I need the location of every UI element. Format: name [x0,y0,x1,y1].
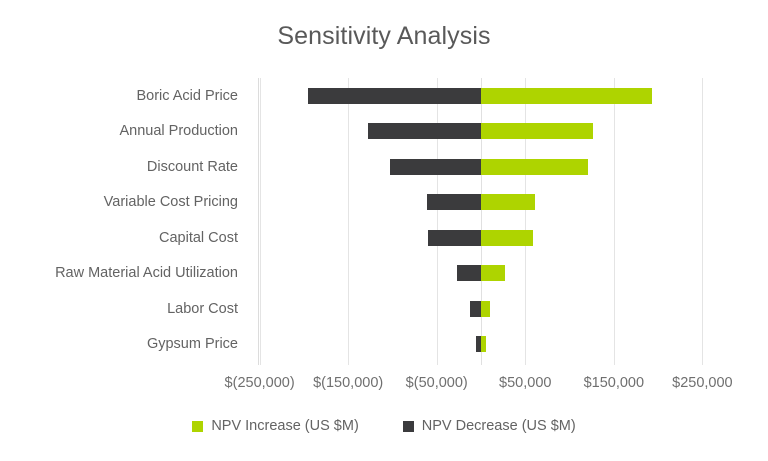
bar-row [258,149,699,184]
bar-npv-decrease[interactable] [457,265,481,281]
bar-npv-increase[interactable] [481,301,490,317]
x-tick-label: $(150,000) [313,373,383,393]
category-axis-labels: Boric Acid PriceAnnual ProductionDiscoun… [0,78,248,365]
bar-npv-increase[interactable] [481,194,535,210]
category-label: Gypsum Price [147,335,238,353]
bar-npv-decrease[interactable] [470,301,481,317]
bar-row [258,78,699,113]
bar-npv-decrease[interactable] [368,123,481,139]
bar-npv-decrease[interactable] [308,88,481,104]
legend-item[interactable]: NPV Decrease (US $M) [403,418,576,434]
bar-row [258,113,699,148]
legend-label: NPV Decrease (US $M) [422,418,576,434]
sensitivity-analysis-chart: Sensitivity Analysis Boric Acid PriceAnn… [0,0,768,461]
category-label: Variable Cost Pricing [104,193,238,211]
legend-label: NPV Increase (US $M) [211,418,358,434]
x-tick-label: $(250,000) [225,373,295,393]
x-tick-label: $(50,000) [406,373,468,393]
chart-legend: NPV Increase (US $M)NPV Decrease (US $M) [0,418,768,434]
bar-npv-decrease[interactable] [390,159,481,175]
bar-npv-increase[interactable] [481,265,505,281]
bar-npv-decrease[interactable] [428,230,481,246]
bar-row [258,220,699,255]
x-tick-label: $250,000 [672,373,732,393]
bars-layer [258,78,699,365]
bar-npv-decrease[interactable] [427,194,481,210]
x-tick-label: $150,000 [584,373,644,393]
category-label: Boric Acid Price [136,87,238,105]
bar-npv-increase[interactable] [481,123,593,139]
x-tick-label: $50,000 [499,373,551,393]
bar-npv-increase[interactable] [481,336,486,352]
legend-swatch-npv-decrease [403,421,414,432]
category-label: Annual Production [120,122,239,140]
category-label: Raw Material Acid Utilization [55,264,238,282]
bar-row [258,255,699,290]
chart-title: Sensitivity Analysis [0,22,768,51]
bar-row [258,291,699,326]
bar-npv-increase[interactable] [481,159,588,175]
plot-area [258,78,699,365]
value-axis-tick-labels: $(250,000)$(150,000)$(50,000)$50,000$150… [0,373,768,395]
bar-npv-increase[interactable] [481,230,533,246]
bar-row [258,326,699,361]
category-label: Capital Cost [159,229,238,247]
category-label: Labor Cost [167,300,238,318]
bar-npv-increase[interactable] [481,88,652,104]
legend-swatch-npv-increase [192,421,203,432]
gridline-250000 [702,78,703,365]
bar-row [258,184,699,219]
legend-item[interactable]: NPV Increase (US $M) [192,418,358,434]
category-label: Discount Rate [147,158,238,176]
